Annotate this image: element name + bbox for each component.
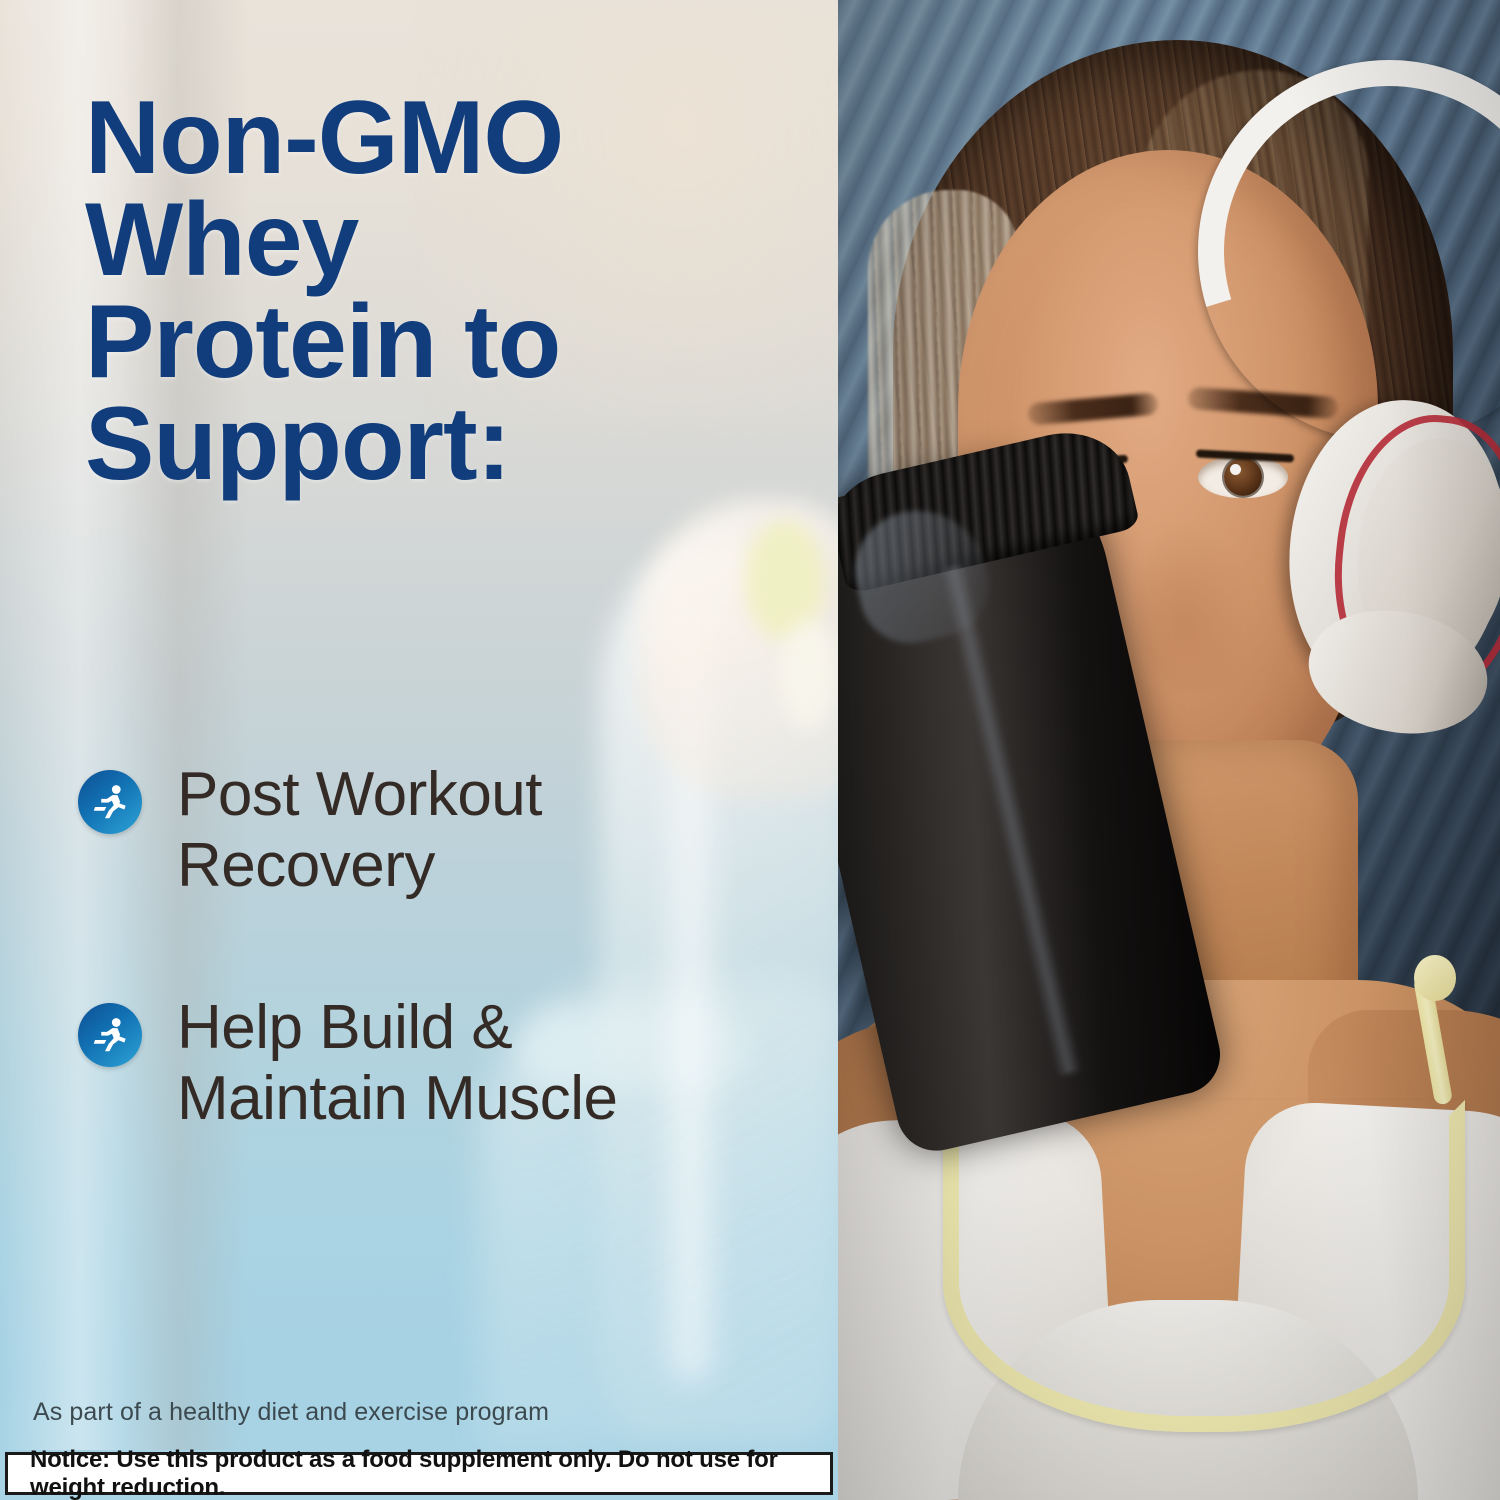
page-title: Non-GMO Whey Protein to Support: [85, 88, 785, 496]
benefits-list: Post Workout Recovery Help Build & Maint… [78, 760, 798, 1227]
list-item-label: Post Workout Recovery [177, 760, 542, 901]
eye-highlight-right [1230, 464, 1241, 475]
list-item: Help Build & Maintain Muscle [78, 993, 798, 1134]
background-faded-nail-secondary [780, 620, 834, 730]
notice-text: Notice: Use this product as a food suppl… [30, 1446, 830, 1500]
tank-top-neckline-trim [943, 1100, 1465, 1432]
list-item: Post Workout Recovery [78, 760, 798, 901]
notice-bar: Notice: Use this product as a food suppl… [5, 1452, 833, 1495]
background-faded-nail [745, 520, 825, 640]
disclaimer-text: As part of a healthy diet and exercise p… [33, 1398, 549, 1427]
left-info-panel: Non-GMO Whey Protein to Support: Post Wo… [0, 0, 838, 1500]
list-item-label: Help Build & Maintain Muscle [177, 993, 617, 1134]
background-faded-hand [640, 500, 838, 800]
nose [1138, 520, 1248, 690]
product-marketing-image: Non-GMO Whey Protein to Support: Post Wo… [0, 0, 1500, 1500]
tank-strap-knot-right [1414, 955, 1456, 1001]
running-person-icon [78, 1003, 142, 1067]
iris-right [1224, 458, 1262, 496]
running-person-icon [78, 770, 142, 834]
product-lifestyle-photo [838, 0, 1500, 1500]
